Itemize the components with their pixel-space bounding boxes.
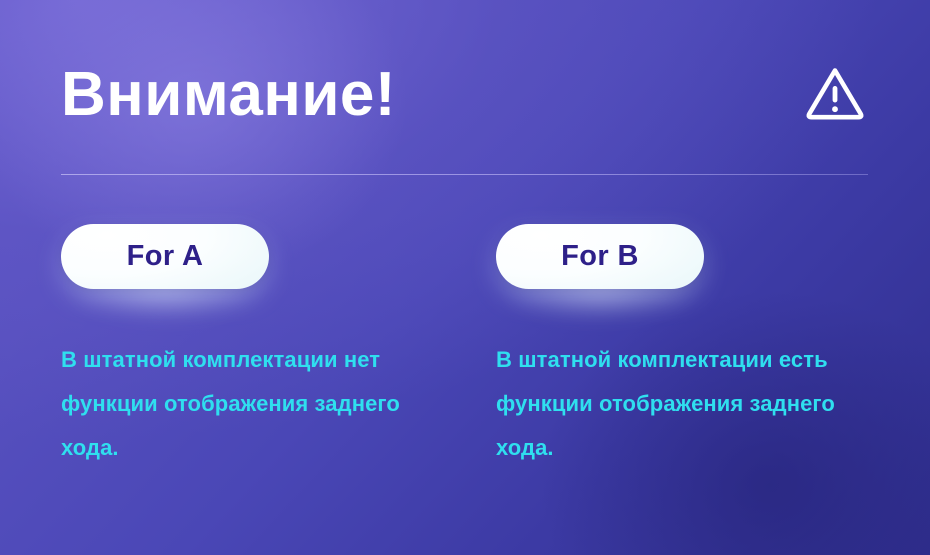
pill-button-for-a[interactable]: For A xyxy=(61,224,269,289)
pill-label-for-a: For A xyxy=(127,240,204,273)
column-for-b: For B В штатной комплектации есть функци… xyxy=(496,224,896,492)
pill-button-for-b[interactable]: For B xyxy=(496,224,704,289)
pill-wrap-for-b: For B xyxy=(496,224,704,289)
pill-wrap-for-a: For A xyxy=(61,224,269,289)
page-title: Внимание! xyxy=(61,52,396,138)
column-for-a: For A В штатной комплектации нет функции… xyxy=(61,224,461,492)
warning-slide: Внимание! For A В штатной комплектации н… xyxy=(0,0,930,555)
slide-header: Внимание! xyxy=(61,52,868,144)
warning-triangle-icon xyxy=(802,62,868,128)
header-divider xyxy=(61,174,868,175)
pill-label-for-b: For B xyxy=(561,240,639,273)
column-body-for-b: В штатной комплектации есть функции отоб… xyxy=(496,338,888,470)
column-body-for-a: В штатной комплектации нет функции отобр… xyxy=(61,338,453,470)
